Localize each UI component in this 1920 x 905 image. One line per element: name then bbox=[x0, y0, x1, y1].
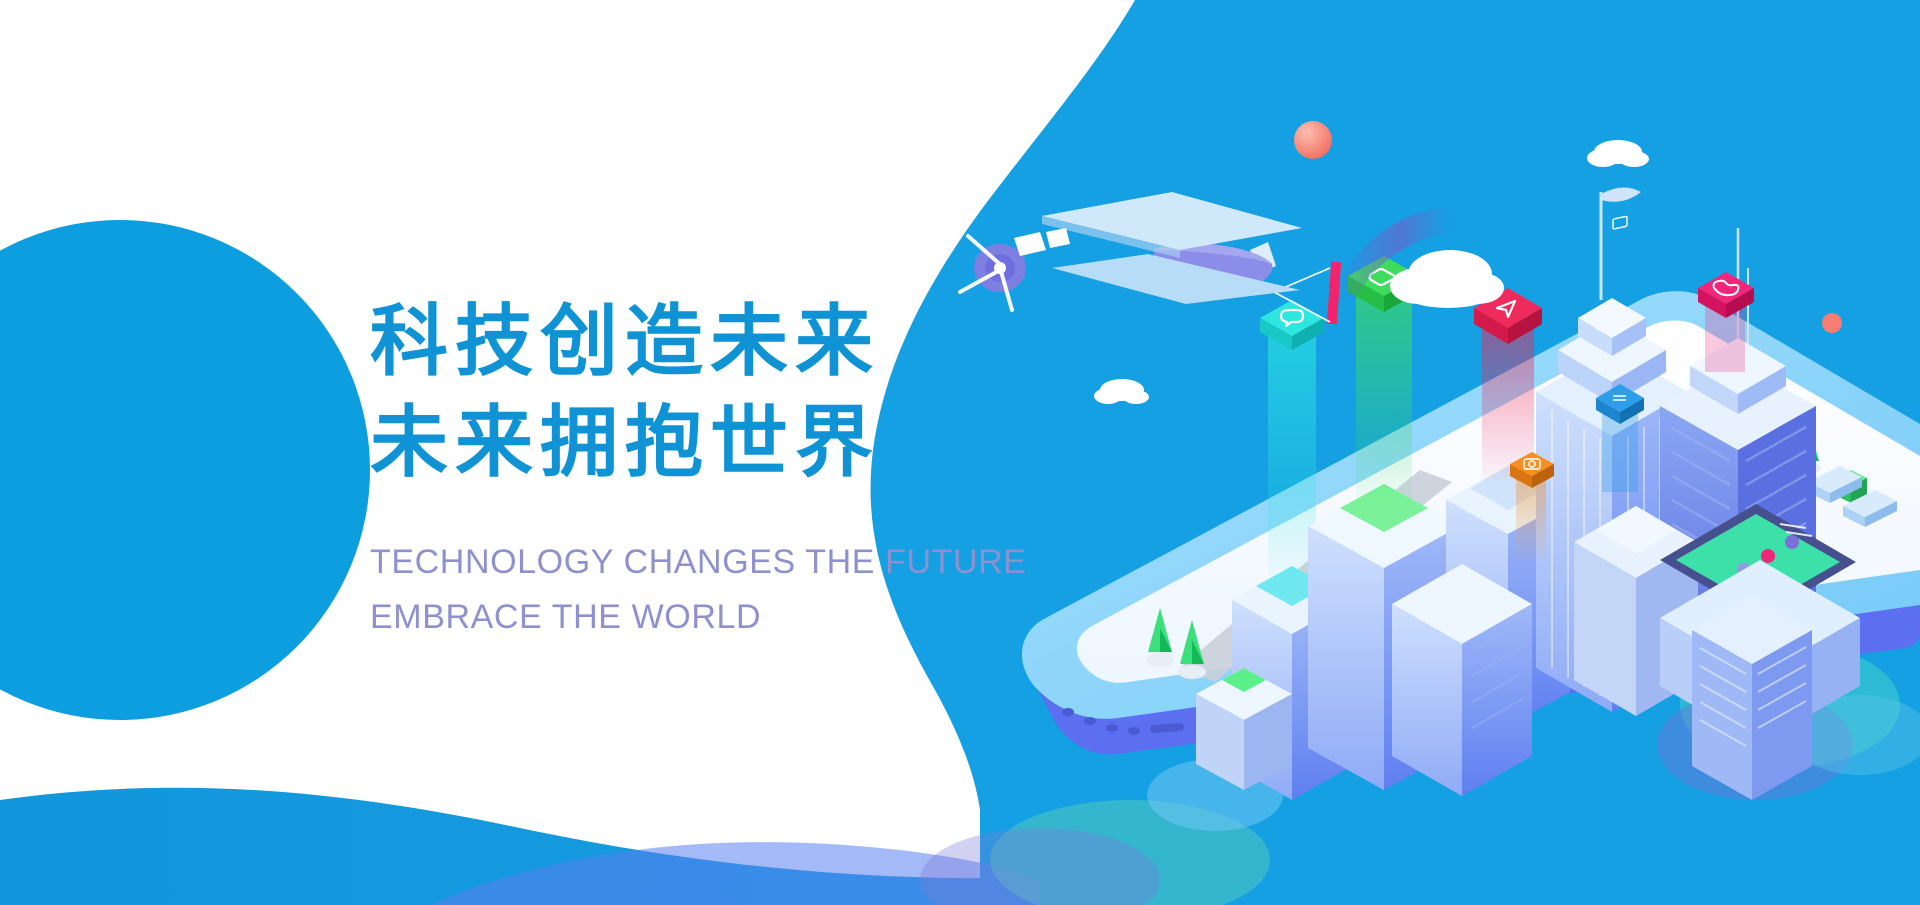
tower-striped-right bbox=[1692, 596, 1812, 800]
cloud-tiny bbox=[1094, 379, 1149, 404]
sun-dot bbox=[1294, 121, 1332, 159]
cloud-small bbox=[1587, 140, 1649, 167]
flag-icon bbox=[1601, 187, 1641, 201]
subheadline-line-2: EMBRACE THE WORLD bbox=[370, 590, 1070, 645]
trail-flag bbox=[1327, 262, 1341, 325]
document-icon bbox=[1613, 216, 1627, 229]
headline-line-2: 未来拥抱世界 bbox=[370, 393, 1070, 494]
cloud-large bbox=[1390, 250, 1504, 308]
hero-banner: 科技创造未来 未来拥抱世界 TECHNOLOGY CHANGES THE FUT… bbox=[0, 0, 1920, 905]
beacon-beam-green bbox=[1356, 288, 1412, 502]
accent-dot bbox=[1822, 313, 1842, 333]
tower-foreground-left bbox=[1196, 668, 1292, 790]
subheadline-line-1: TECHNOLOGY CHANGES THE FUTURE bbox=[370, 535, 1070, 590]
hero-text-block: 科技创造未来 未来拥抱世界 TECHNOLOGY CHANGES THE FUT… bbox=[370, 292, 1070, 645]
tower-front-center bbox=[1392, 564, 1532, 905]
headline-line-1: 科技创造未来 bbox=[370, 292, 1070, 393]
